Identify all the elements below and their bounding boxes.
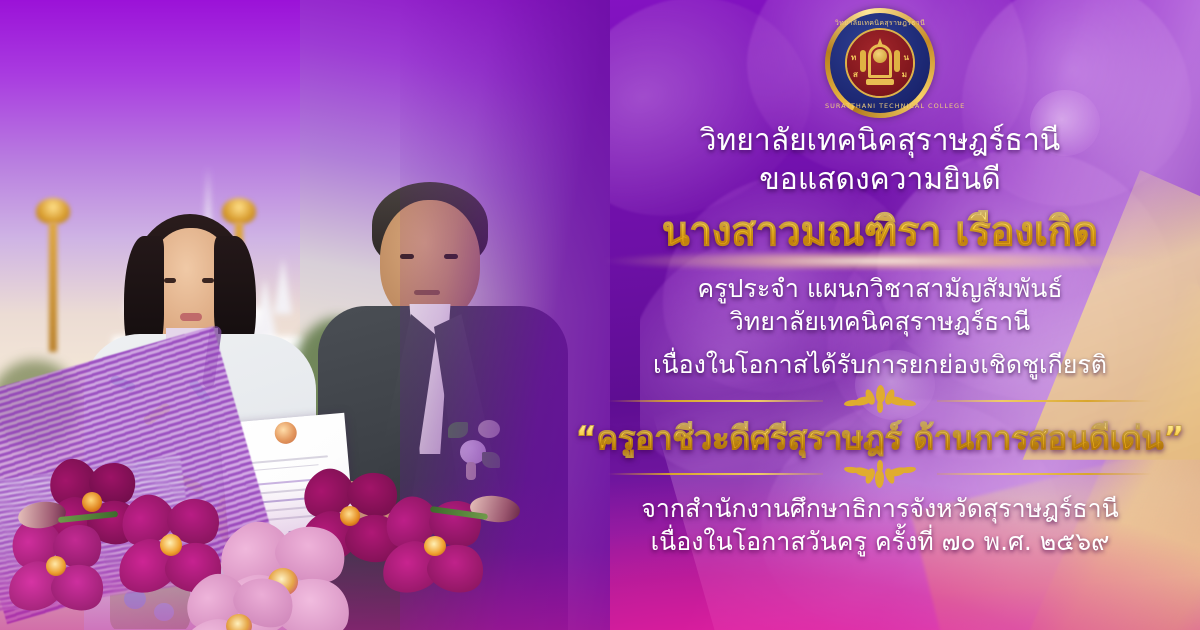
temple-lamp-head-left xyxy=(36,198,70,224)
divider-bottom xyxy=(600,460,1160,486)
emblem-letter-1: ท xyxy=(851,51,856,64)
orchid-bouquet xyxy=(0,450,620,630)
seal-english-text: SURATTHANI TECHNICAL COLLEGE xyxy=(825,102,935,110)
emblem-wing-right xyxy=(894,50,900,72)
emblem-dome xyxy=(873,49,887,63)
college-seal-logo: วิทยาลัยเทคนิคสุราษฎร์ธานี SURATTHANI TE… xyxy=(825,8,935,118)
divider-line-right-2 xyxy=(937,473,1152,475)
orchid-flower-pink xyxy=(180,576,300,630)
college-name: วิทยาลัยเทคนิคสุราษฎร์ธานี xyxy=(700,122,1061,160)
emblem-letter-3: ส xyxy=(853,68,858,81)
honoree-name: นางสาวมณฑิรา เรืองเกิด xyxy=(560,209,1200,256)
seal-emblem xyxy=(859,40,901,86)
orchid-flower xyxy=(8,520,104,612)
divider-line-left-2 xyxy=(608,473,823,475)
honoree-name-block: นางสาวมณฑิรา เรืองเกิด xyxy=(560,209,1200,256)
fleuron-ornament-inverted xyxy=(836,460,924,486)
award-title: “ครูอาชีวะดีศรีสุราษฎร์ ด้านการสอนดีเด่น… xyxy=(576,419,1185,457)
emblem-finial xyxy=(877,38,883,46)
divider-line-right xyxy=(937,400,1152,402)
congratulation-line: ขอแสดงความยินดี xyxy=(759,160,1000,199)
orchid-bud xyxy=(470,496,524,524)
fleuron-ornament xyxy=(836,387,924,413)
certificate-seal xyxy=(274,421,298,445)
role-line-2: วิทยาลัยเทคนิคสุราษฎร์ธานี xyxy=(730,305,1031,339)
temple-lamp-post-left xyxy=(49,222,57,352)
role-line-1: ครูประจำ แผนกวิชาสามัญสัมพันธ์ xyxy=(697,272,1062,306)
from-line-2: เนื่องในโอกาสวันครู ครั้งที่ ๗๐ พ.ศ. ๒๕๖… xyxy=(651,525,1110,558)
emblem-letter-2: น xyxy=(904,51,909,64)
occasion-line: เนื่องในโอกาสได้รับการยกย่องเชิดชูเกียรต… xyxy=(653,349,1107,382)
divider-top xyxy=(600,387,1160,413)
emblem-wing-left xyxy=(860,50,866,72)
emblem-letter-4: ม xyxy=(902,68,907,81)
from-line-1: จากสำนักงานศึกษาธิการจังหวัดสุราษฎร์ธานี xyxy=(641,492,1118,525)
name-glow-streak xyxy=(490,253,1200,269)
emblem-base xyxy=(866,79,894,85)
divider-line-left xyxy=(608,400,823,402)
congratulation-banner: วิทยาลัยเทคนิคสุราษฎร์ธานี SURATTHANI TE… xyxy=(0,0,1200,630)
banner-content: วิทยาลัยเทคนิคสุราษฎร์ธานี SURATTHANI TE… xyxy=(560,0,1200,630)
